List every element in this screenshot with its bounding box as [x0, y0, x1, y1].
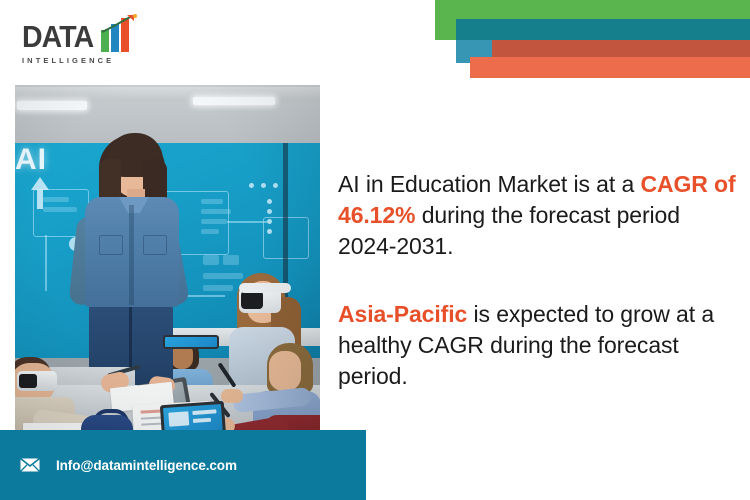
copy-block: AI in Education Market is at a CAGR of 4…: [338, 146, 736, 415]
footer-bar: Info@datamintelligence.com: [0, 430, 366, 500]
photo-vignette: [15, 85, 320, 455]
orange-bar: [470, 57, 750, 78]
classroom-photo: AI: [15, 85, 320, 455]
logo-wordmark: DATA: [22, 21, 93, 52]
envelope-icon: [20, 458, 40, 472]
growth-arrow-icon: [101, 14, 137, 34]
paragraph-region: Asia-Pacific is expected to grow at a he…: [338, 299, 736, 392]
p1-before: AI in Education Market is at a: [338, 171, 640, 197]
logo-subtitle: INTELLIGENCE: [22, 56, 142, 65]
p2-highlight: Asia-Pacific: [338, 301, 467, 327]
brand-logo: DATA INTELLIGENCE: [22, 14, 142, 72]
paragraph-cagr: AI in Education Market is at a CAGR of 4…: [338, 169, 736, 262]
infographic-canvas: DATA INTELLIGENCE: [0, 0, 750, 500]
logo-mark: DATA: [22, 14, 142, 52]
contact-email[interactable]: Info@datamintelligence.com: [56, 458, 237, 473]
logo-bar-chart-icon: [101, 18, 129, 52]
